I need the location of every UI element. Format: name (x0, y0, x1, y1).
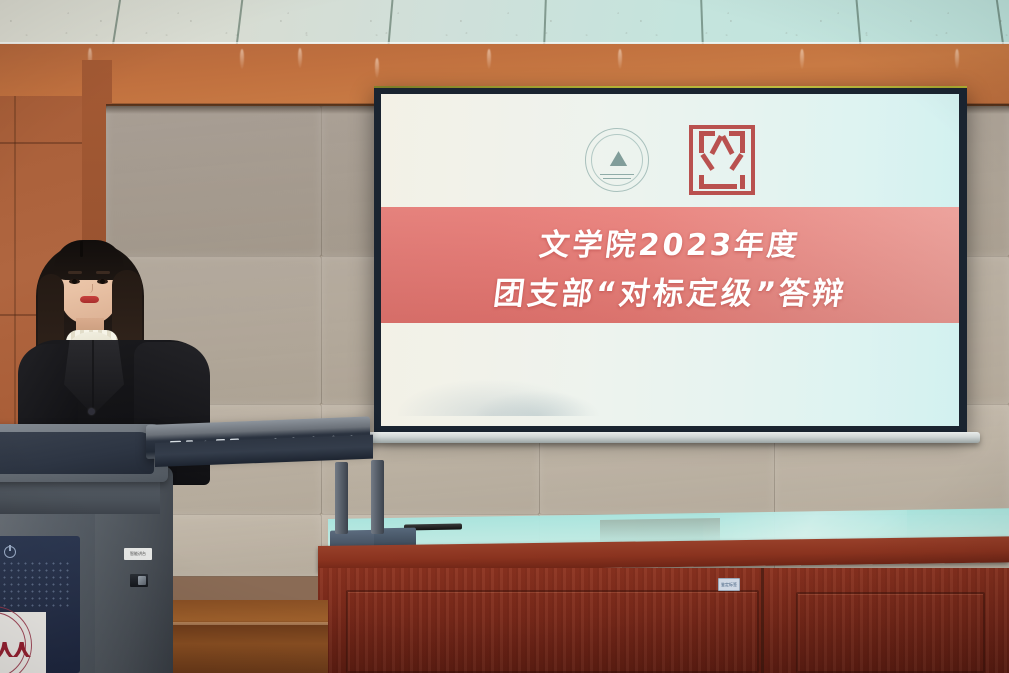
ceiling (0, 0, 1009, 48)
seal-inner-pattern (693, 129, 751, 191)
shelf-support-leg (335, 462, 348, 534)
eye-left (69, 279, 80, 284)
slide-title-line-1: 文学院2023年度 (537, 220, 803, 264)
podium-speaker-grill (0, 560, 72, 608)
seal-stroke (729, 131, 745, 136)
square-red-seal-logo (689, 125, 755, 195)
slide-logo-row: ⛰ (381, 124, 959, 197)
hair-parting (80, 241, 83, 257)
screen-roller-bar[interactable] (366, 432, 980, 443)
slide-mountain-watermark (462, 380, 612, 417)
blazer-button (88, 408, 95, 415)
desk-id-label: 鉴定标签 (718, 578, 740, 591)
stage-edge-highlight (148, 622, 328, 625)
seal-water-line (600, 174, 634, 175)
light-reflection (955, 49, 959, 69)
seal-stroke (729, 154, 743, 172)
seal-stroke (721, 135, 735, 155)
light-reflection (298, 48, 302, 68)
light-reflection (618, 49, 622, 69)
light-reflection (375, 58, 379, 78)
seal-stroke (700, 154, 714, 172)
slide-title-line-2: 团支部“对标定级”答辩 (491, 268, 849, 313)
desk-inset-panel (346, 590, 759, 673)
seal-stroke (699, 131, 715, 136)
light-reflection (487, 49, 491, 69)
eyebrow-right (96, 271, 110, 274)
desk-inset-panel (796, 592, 985, 673)
conference-hall-scene: ⛰ (0, 0, 1009, 673)
podium-card-slot[interactable] (130, 574, 148, 587)
desk-front-panel: 鉴定标签 (318, 568, 1009, 673)
power-button-icon[interactable] (4, 546, 16, 558)
light-reflection (800, 49, 804, 69)
university-logo-mark: ⋏⋏ (0, 636, 28, 662)
stage-floor (148, 600, 328, 673)
podium-desktop-recess (0, 432, 154, 474)
hair-top (54, 240, 124, 280)
seal-stroke (740, 175, 745, 189)
desk-panel-seam (761, 568, 764, 673)
eyebrow-left (68, 271, 82, 274)
lips (80, 296, 99, 303)
eye-right (97, 279, 108, 284)
university-seal-logo: ⛰ (585, 128, 649, 192)
projection-screen[interactable]: ⛰ (381, 94, 959, 426)
podium-brand-tag: 智能讲台 (124, 548, 152, 560)
slide-title-block: 文学院2023年度 团支部“对标定级”答辩 (381, 212, 959, 322)
wall-pad-cell (106, 106, 322, 257)
light-reflection (240, 49, 244, 69)
shelf-support-leg (371, 460, 384, 534)
mountain-glyph-icon: ⛰ (609, 149, 624, 171)
seal-water-line (603, 178, 631, 179)
seal-stroke (699, 184, 737, 189)
